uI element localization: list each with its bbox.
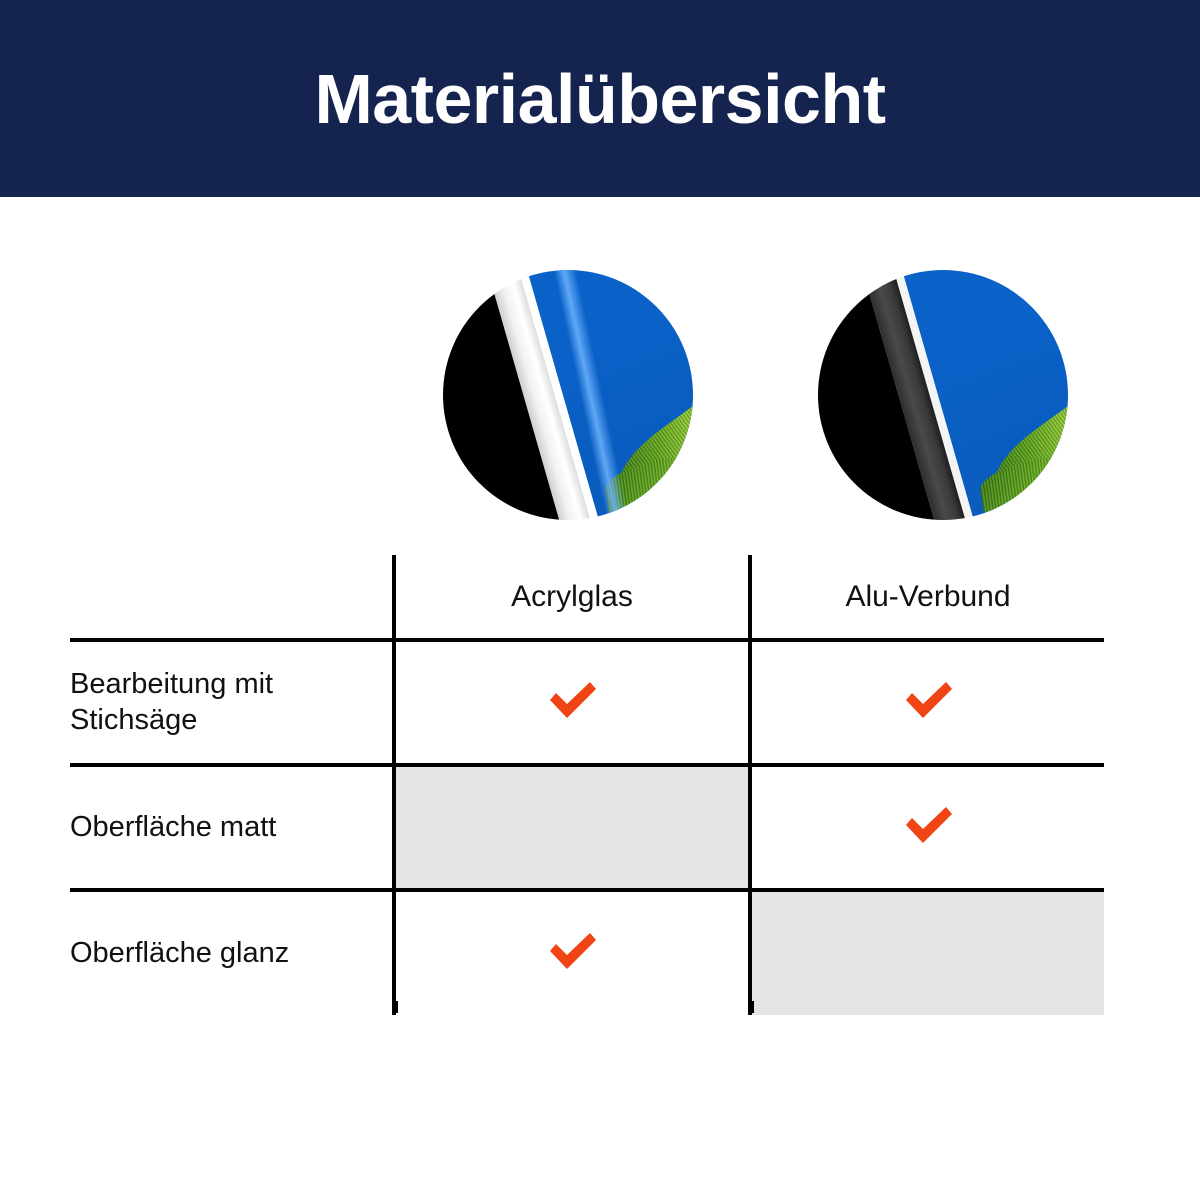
table-header-blank bbox=[70, 555, 394, 640]
table-row: Oberfläche glanz bbox=[70, 890, 1104, 1015]
alu-verbund-sample-image bbox=[818, 270, 1068, 520]
column-divider-stub-2 bbox=[750, 1001, 754, 1013]
acrylglas-sample-image bbox=[443, 270, 693, 520]
table-row: Oberfläche matt bbox=[70, 765, 1104, 890]
table-row: Bearbeitung mit Stichsäge bbox=[70, 640, 1104, 765]
material-comparison-table-wrap: Acrylglas Alu-Verbund Bearbeitung mit St… bbox=[70, 555, 1104, 1015]
check-mark-icon bbox=[546, 930, 598, 972]
palm-frond bbox=[638, 270, 693, 272]
cell-glanz-acrylglas bbox=[394, 890, 750, 1015]
cell-glanz-aluverbund bbox=[750, 890, 1104, 1015]
row-label-oberflaeche-matt: Oberfläche matt bbox=[70, 765, 394, 890]
row-label-line2: Stichsäge bbox=[70, 703, 392, 738]
row-label-line1: Oberfläche matt bbox=[70, 810, 392, 845]
row-label-bearbeitung: Bearbeitung mit Stichsäge bbox=[70, 640, 394, 765]
acrylglas-panel-artwork bbox=[443, 270, 693, 520]
check-mark-icon bbox=[902, 679, 954, 721]
row-label-line1: Bearbeitung mit bbox=[70, 667, 392, 702]
page-title: Materialübersicht bbox=[314, 64, 885, 134]
palm-frond bbox=[661, 270, 693, 284]
check-mark-icon bbox=[546, 679, 598, 721]
palm-frond bbox=[1036, 270, 1068, 284]
row-label-oberflaeche-glanz: Oberfläche glanz bbox=[70, 890, 394, 1015]
cell-bearbeitung-acrylglas bbox=[394, 640, 750, 765]
palm-frond bbox=[1013, 270, 1068, 272]
column-divider-stub-1 bbox=[394, 1001, 398, 1013]
alu-verbund-panel-artwork bbox=[818, 270, 1068, 520]
header-banner: Materialübersicht bbox=[0, 0, 1200, 197]
material-sample-row bbox=[0, 270, 1200, 522]
material-comparison-table: Acrylglas Alu-Verbund Bearbeitung mit St… bbox=[70, 555, 1104, 1015]
cell-bearbeitung-aluverbund bbox=[750, 640, 1104, 765]
table-header-row: Acrylglas Alu-Verbund bbox=[70, 555, 1104, 640]
check-mark-icon bbox=[902, 804, 954, 846]
table-header-acrylglas: Acrylglas bbox=[394, 555, 750, 640]
cell-matt-acrylglas bbox=[394, 765, 750, 890]
row-label-line1: Oberfläche glanz bbox=[70, 936, 392, 971]
table-header-aluverbund: Alu-Verbund bbox=[750, 555, 1104, 640]
cell-matt-aluverbund bbox=[750, 765, 1104, 890]
material-overview-page: Materialübersicht bbox=[0, 0, 1200, 1200]
